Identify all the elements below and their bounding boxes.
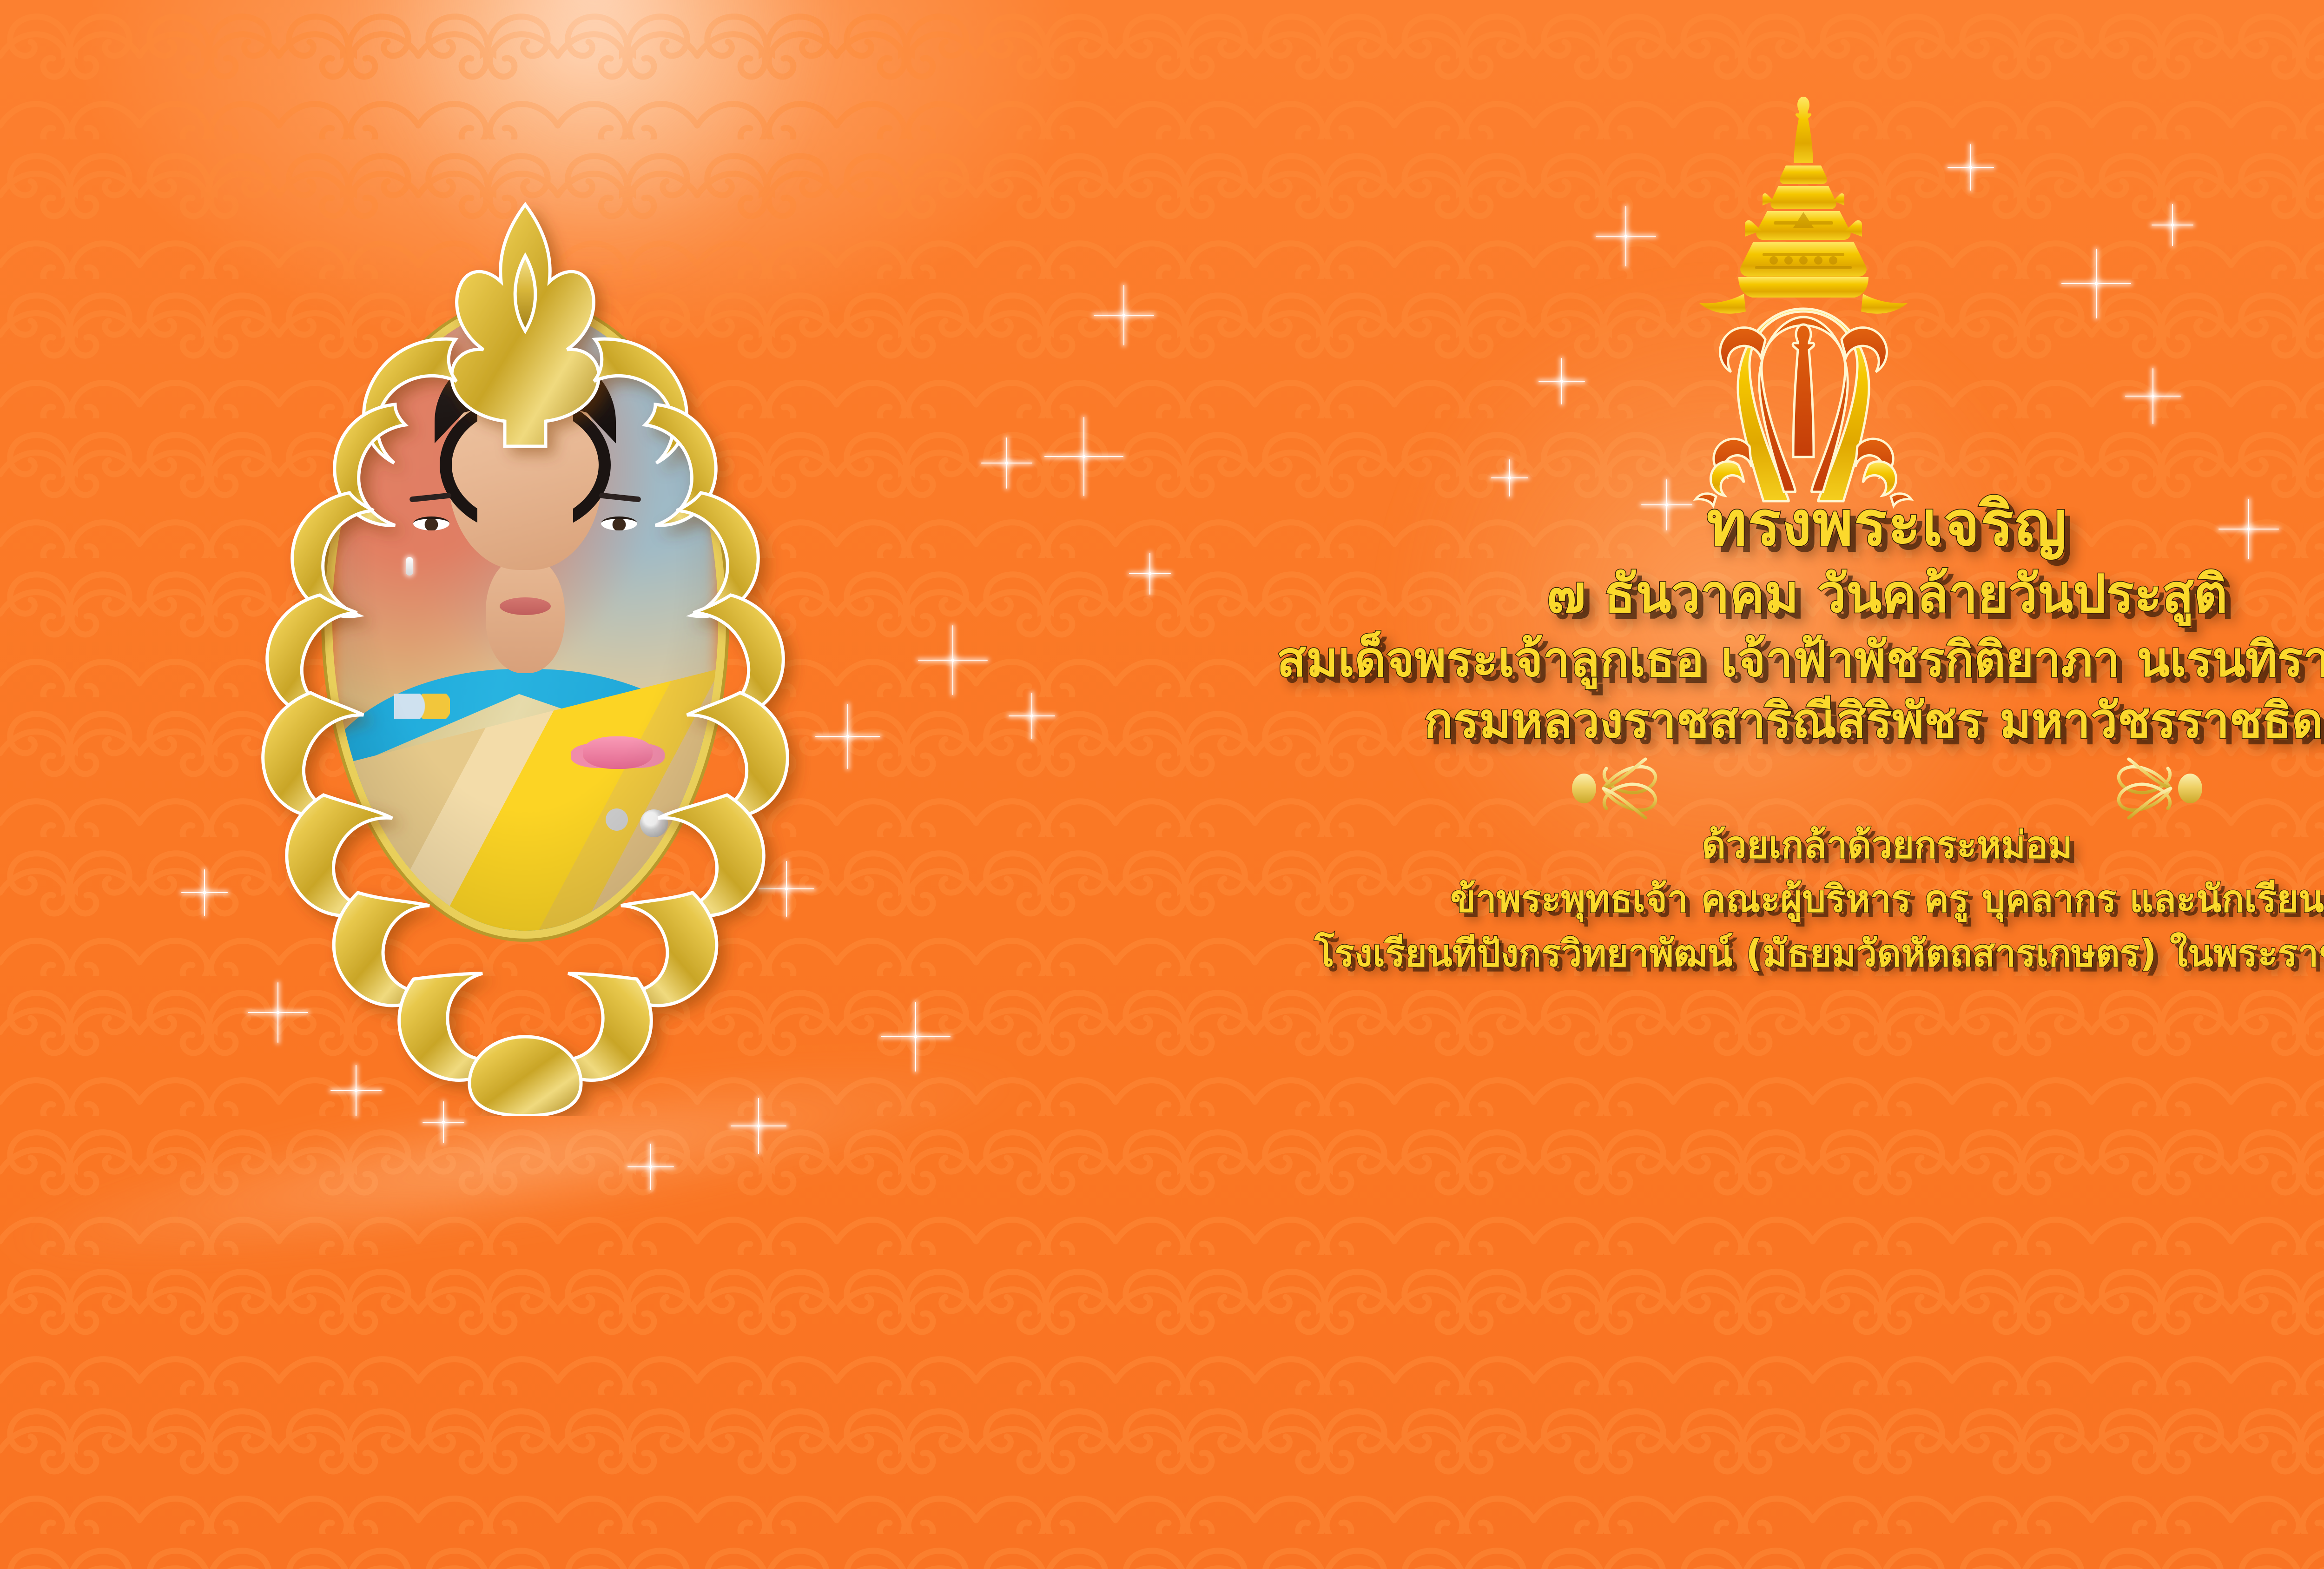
birthday-date-line: ๗ ธันวาคม วันคล้ายวันประสูติ bbox=[1013, 568, 2324, 621]
greeting-text-block: ทรงพระเจริญ ๗ ธันวาคม วันคล้ายวันประสูติ… bbox=[1013, 493, 2324, 973]
hail-line: ทรงพระเจริญ bbox=[1013, 493, 2324, 556]
royal-cypher bbox=[1664, 93, 1943, 502]
signers-line: ข้าพระพุทธเจ้า คณะผู้บริหาร ครู บุคลากร … bbox=[1013, 880, 2324, 918]
portrait-gold-frame bbox=[195, 186, 855, 1116]
poster-canvas: ทรงพระเจริญ ๗ ธันวาคม วันคล้ายวันประสูติ… bbox=[0, 0, 2324, 1569]
humble-phrase-line: ด้วยเกล้าด้วยกระหม่อม bbox=[1013, 826, 2324, 864]
portrait-block bbox=[195, 186, 855, 1116]
royal-name-line-1: สมเด็จพระเจ้าลูกเธอ เจ้าฟ้าพัชรกิติยาภา … bbox=[1013, 635, 2324, 684]
thai-royal-crown-icon bbox=[1699, 97, 1908, 314]
monogram-letter bbox=[1696, 309, 1911, 506]
school-name-line: โรงเรียนทีปังกรวิทยาพัฒน์ (มัธยมวัดหัตถส… bbox=[1013, 934, 2324, 973]
ornamental-divider bbox=[1529, 754, 2245, 823]
royal-name-line-2: กรมหลวงราชสาริณีสิริพัชร มหาวัชรราชธิดา bbox=[1013, 696, 2324, 745]
